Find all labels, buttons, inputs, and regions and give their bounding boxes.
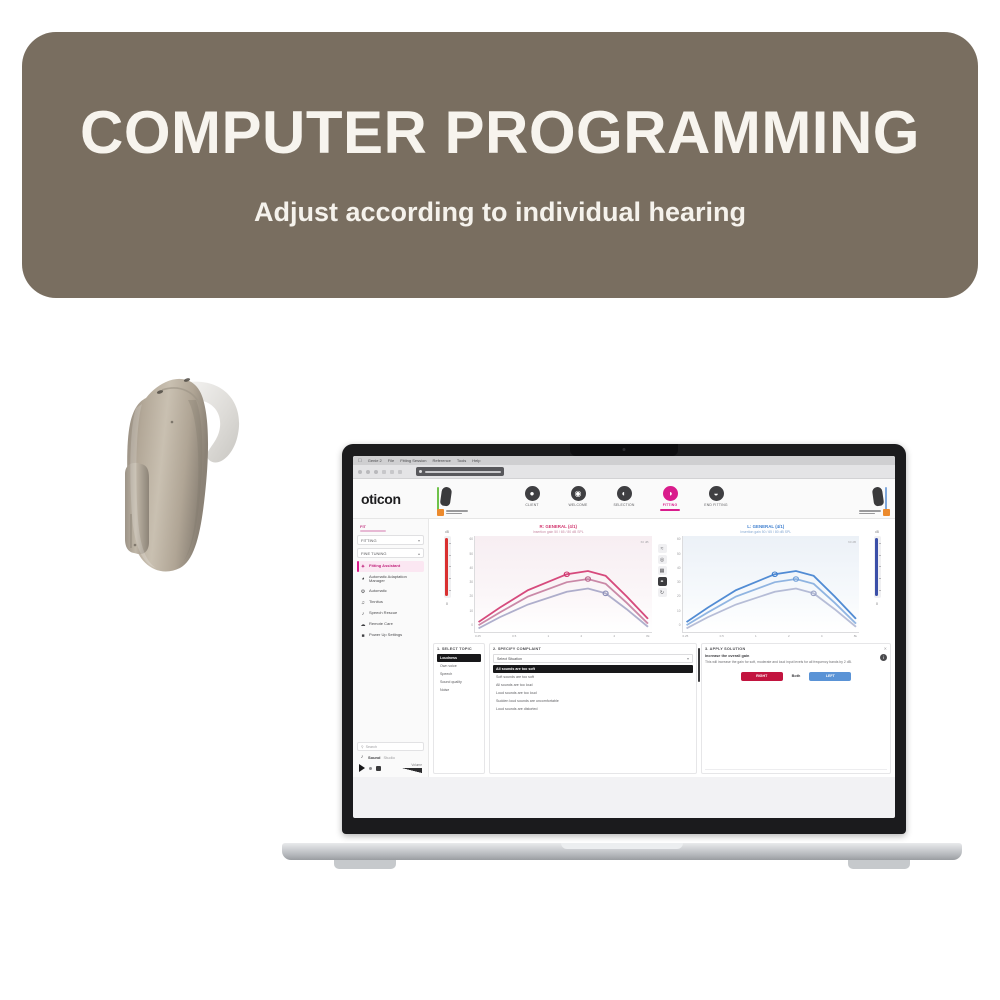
cloud-icon: ☁ — [360, 622, 366, 628]
ear-icon: ◉ — [571, 486, 586, 501]
sidebar-select-fine-tuning-value: FINE TUNING — [361, 551, 386, 556]
device-thumbnail-right[interactable] — [437, 487, 451, 511]
chevron-up-icon: ▴ — [418, 551, 420, 556]
gain-charts-row: dB 0 R: GENERAL (4/1) — [433, 522, 891, 640]
address-bar-text — [425, 471, 501, 473]
right-meter-ticks — [449, 536, 451, 598]
browser-toolbar — [353, 465, 895, 479]
right-meter-caption: dB — [445, 530, 449, 534]
chevron-down-icon: ▾ — [687, 656, 689, 661]
menu-item-tools[interactable]: Tools — [457, 458, 466, 463]
chart-yaxis-left: 6050403020100 — [673, 536, 681, 633]
chart-body-left: 6050403020100 60 dB — [673, 536, 860, 633]
play-icon[interactable] — [359, 764, 365, 772]
workflow-steps: ● CLIENT ◉ WELCOME ◐ SELECTION ◑ FITTING — [517, 486, 731, 511]
back-icon[interactable] — [382, 470, 386, 474]
tune-icon: ◑ — [663, 486, 678, 501]
header-banner: COMPUTER PROGRAMMING Adjust according to… — [22, 32, 978, 298]
wizard-step1-panel: 1. SELECT TOPIC Loudness Own voice Speec… — [433, 643, 485, 774]
chart-left-ear: L: GENERAL (4/1) Insertion gain 50 / 65 … — [672, 522, 861, 640]
wizard-step2-panel: 2. SPECIFY COMPLAINT Select Situation ▾ … — [489, 643, 697, 774]
situation-dropdown-value: Select Situation — [497, 657, 522, 661]
chart-curves-right — [475, 536, 652, 632]
left-meter-ticks — [879, 536, 881, 598]
gauge-icon: ◕ — [360, 576, 366, 582]
wave-icon: ♫ — [360, 600, 366, 606]
laptop-foot-left — [334, 860, 396, 869]
speech-icon: ♪ — [360, 611, 366, 617]
apply-both-label[interactable]: Both — [792, 674, 801, 678]
chart-xaxis-right: 0.250.51248k — [465, 633, 652, 638]
topic-noise[interactable]: Noise — [437, 686, 481, 694]
solution-description: This will increase the gain for soft, mo… — [705, 660, 852, 665]
complaint-option-3[interactable]: Loud sounds are too loud — [493, 689, 693, 697]
search-icon: ⚲ — [361, 745, 364, 749]
close-icon[interactable] — [358, 470, 362, 474]
battery-icon: ■ — [360, 633, 366, 639]
gear-icon: ⚙ — [360, 589, 366, 595]
sidebar-item-automatic[interactable]: ⚙ Automatic — [357, 586, 424, 597]
device-meta-left — [859, 509, 890, 516]
search-placeholder: Search — [366, 745, 377, 749]
forward-icon[interactable] — [390, 470, 394, 474]
complaint-option-5[interactable]: Loud sounds are distorted — [493, 705, 693, 713]
sidebar-section-title: FIT — [360, 524, 421, 529]
chart-title-right: R: GENERAL (4/1) — [465, 524, 652, 529]
sidebar-item-remote-care[interactable]: ☁ Remote Care — [357, 619, 424, 630]
apply-left-button[interactable]: LEFT — [809, 672, 851, 681]
device-icon: ◐ — [617, 486, 632, 501]
sidebar-item-label-3: Tinnitus — [369, 600, 383, 605]
laptop-lid:  Genie 2 File Fitting Session Reference… — [342, 444, 906, 834]
sidebar-select-fine-tuning[interactable]: FINE TUNING ▴ — [357, 548, 424, 558]
camera-notch — [570, 444, 678, 456]
sidebar-item-fitting-assistant[interactable]: ✦ Fitting Assistant — [357, 561, 424, 572]
device-detail-right — [446, 510, 468, 514]
lock-icon — [419, 470, 422, 473]
sidebar-item-tinnitus[interactable]: ♫ Tinnitus — [357, 597, 424, 608]
address-bar[interactable] — [416, 467, 504, 476]
chart-title-left: L: GENERAL (4/1) — [673, 524, 860, 529]
stop-icon[interactable] — [369, 767, 372, 770]
left-gain-meter[interactable]: dB 0 — [863, 522, 891, 640]
sidebar-spacer — [357, 641, 424, 742]
solution-header: Increase the overall gain This will incr… — [705, 654, 887, 665]
macos-menu-bar[interactable]:  Genie 2 File Fitting Session Reference… — [353, 456, 895, 465]
chart-plot-right[interactable]: 60 dB — [474, 536, 652, 633]
check-icon: ◒ — [709, 486, 724, 501]
info-icon[interactable]: i — [880, 654, 887, 661]
battery-indicator-left — [885, 487, 887, 511]
sidebar-header: FIT — [357, 523, 424, 535]
complaint-option-2[interactable]: All sounds are too loud — [493, 681, 693, 689]
step-end-fitting[interactable]: ◒ END FITTING — [701, 486, 731, 507]
sidebar-item-power-up-settings[interactable]: ■ Power Up Settings — [357, 630, 424, 641]
chart-tool-rail: ≈ ◎ ▦ ⚭ ↻ — [656, 522, 669, 640]
chevron-down-icon: ▾ — [418, 538, 420, 543]
step-label-selection: SELECTION — [613, 503, 634, 507]
menu-item-app[interactable]: Genie 2 — [368, 458, 382, 463]
fitting-assistant-wizard: 1. SELECT TOPIC Loudness Own voice Speec… — [433, 643, 891, 774]
chart-subtitle-left: Insertion gain 50 / 65 / 80 dB SPL — [673, 530, 860, 534]
volume-wedge-icon — [402, 768, 422, 773]
loop-icon[interactable] — [376, 766, 381, 771]
menu-item-file[interactable]: File — [388, 458, 394, 463]
wand-icon: ✦ — [360, 564, 366, 570]
laptop-base — [282, 843, 962, 860]
step-selection[interactable]: ◐ SELECTION — [609, 486, 639, 507]
right-meter-track[interactable] — [444, 536, 451, 598]
chart-body-right: 6050403020100 60 dB — [465, 536, 652, 633]
laptop-mockup:  Genie 2 File Fitting Session Reference… — [282, 444, 962, 874]
wizard-scrollbar[interactable] — [698, 648, 700, 682]
wizard-step2-title: 2. SPECIFY COMPLAINT — [493, 647, 693, 651]
step-label-welcome: WELCOME — [569, 503, 588, 507]
close-icon[interactable]: ✕ — [884, 646, 887, 651]
chart-curves-left — [683, 536, 860, 632]
link-icon[interactable]: ⚭ — [658, 577, 667, 586]
sidebar-item-label-6: Power Up Settings — [369, 633, 402, 638]
chart-right-ear: R: GENERAL (4/1) Insertion gain 50 / 65 … — [464, 522, 653, 640]
webcam-icon — [623, 448, 626, 451]
sidebar-item-label-1: Automatic Adaptation Manager — [369, 575, 421, 584]
volume-slider[interactable]: Volume — [402, 763, 422, 773]
step-label-client: CLIENT — [525, 503, 538, 507]
wizard-step1-title: 1. SELECT TOPIC — [437, 647, 481, 651]
topic-own-voice[interactable]: Own voice — [437, 662, 481, 670]
minimize-icon[interactable] — [366, 470, 370, 474]
header-right-cluster — [873, 487, 887, 511]
sidebar-select-fitting-value: FITTING — [361, 538, 377, 543]
panel-footer-divider — [705, 769, 887, 770]
curve-icon[interactable]: ≈ — [658, 544, 667, 553]
chart-subtitle-right: Insertion gain 50 / 65 / 80 dB SPL — [465, 530, 652, 534]
device-meta-right — [437, 509, 468, 516]
chart-plot-left[interactable]: 60 dB — [682, 536, 860, 633]
step-client[interactable]: ● CLIENT — [517, 486, 547, 507]
chart-yaxis-right: 6050403020100 — [465, 536, 473, 633]
banner-subtitle: Adjust according to individual hearing — [254, 197, 746, 228]
ear-badge-left — [883, 509, 890, 516]
sidebar-item-automatic-adaptation-manager[interactable]: ◕ Automatic Adaptation Manager — [357, 572, 424, 586]
apply-right-button[interactable]: RIGHT — [741, 672, 783, 681]
right-meter-value: 0 — [446, 602, 448, 606]
sidebar-item-label-0: Fitting Assistant — [369, 564, 400, 569]
wizard-step3-panel: ✕ 3. APPLY SOLUTION Increase the overall… — [701, 643, 891, 774]
apple-menu-icon[interactable]:  — [358, 458, 362, 464]
menu-item-help[interactable]: Help — [472, 458, 480, 463]
complaint-option-4[interactable]: Sudden loud sounds are uncomfortable — [493, 697, 693, 705]
device-thumbnail-left[interactable] — [873, 487, 887, 511]
left-meter-caption: dB — [875, 530, 879, 534]
topic-speech[interactable]: Speech — [437, 670, 481, 678]
sound-studio-label[interactable]: ♪ Sound Studio — [357, 754, 424, 763]
step-fitting[interactable]: ◑ FITTING — [655, 486, 685, 511]
apply-solution-buttons: RIGHT Both LEFT — [705, 672, 887, 681]
hearing-aid-icon-left — [872, 486, 885, 506]
main-content: dB 0 R: GENERAL (4/1) — [429, 519, 895, 777]
sidebar-item-speech-rescue[interactable]: ♪ Speech Rescue — [357, 608, 424, 619]
sidebar: FIT FITTING ▾ FINE TUNING ▴ ✦ Fitting As… — [353, 519, 429, 777]
left-meter-track[interactable] — [874, 536, 881, 598]
step-label-end-fitting: END FITTING — [704, 503, 727, 507]
hearing-aid-icon-right — [440, 486, 453, 506]
situation-dropdown[interactable]: Select Situation ▾ — [493, 654, 693, 663]
sidebar-item-label-5: Remote Care — [369, 622, 393, 627]
volume-label: Volume — [411, 763, 422, 767]
sound-studio-title: Sound — [368, 755, 380, 760]
right-gain-meter[interactable]: dB 0 — [433, 522, 461, 640]
ear-badge-right — [437, 509, 444, 516]
hearing-aid-product-image — [68, 352, 258, 602]
topic-loudness[interactable]: Loudness — [437, 654, 481, 662]
wizard-step3-title: 3. APPLY SOLUTION — [705, 647, 887, 651]
hearing-aid-illustration — [68, 352, 258, 602]
complaint-option-1[interactable]: Soft sounds are too soft — [493, 673, 693, 681]
laptop-foot-right — [848, 860, 910, 869]
left-meter-fill — [875, 538, 878, 596]
chart-xaxis-left: 0.250.51248k — [673, 633, 860, 638]
menu-item-reference[interactable]: Reference — [432, 458, 450, 463]
app-body: FIT FITTING ▾ FINE TUNING ▴ ✦ Fitting As… — [353, 519, 895, 777]
menu-item-session[interactable]: Fitting Session — [400, 458, 426, 463]
app-header: oticon ● CLIENT — [353, 479, 895, 519]
grid-icon[interactable]: ▦ — [658, 566, 667, 575]
sidebar-section-underline — [360, 530, 386, 532]
right-meter-fill — [445, 538, 448, 596]
left-meter-value: 0 — [876, 602, 878, 606]
complaint-option-0[interactable]: All sounds are too soft — [493, 665, 693, 673]
laptop-screen:  Genie 2 File Fitting Session Reference… — [353, 456, 895, 818]
speaker-icon: ♪ — [359, 754, 365, 760]
topic-sound-quality[interactable]: Sound quality — [437, 678, 481, 686]
step-welcome[interactable]: ◉ WELCOME — [563, 486, 593, 507]
sidebar-item-label-4: Speech Rescue — [369, 611, 397, 616]
solution-title: Increase the overall gain — [705, 654, 852, 658]
oticon-logo: oticon — [361, 491, 437, 507]
device-detail-left — [859, 510, 881, 514]
step-label-fitting: FITTING — [663, 503, 678, 507]
reload-icon[interactable] — [398, 470, 402, 474]
reset-icon[interactable]: ↻ — [658, 588, 667, 597]
battery-indicator-right — [437, 487, 439, 511]
sidebar-search-input[interactable]: ⚲ Search — [357, 742, 424, 751]
person-icon: ● — [525, 486, 540, 501]
sidebar-select-fitting[interactable]: FITTING ▾ — [357, 535, 424, 545]
banner-title: COMPUTER PROGRAMMING — [80, 103, 920, 163]
maximize-icon[interactable] — [374, 470, 378, 474]
sidebar-item-label-2: Automatic — [369, 589, 387, 594]
sound-player: Volume — [357, 763, 424, 777]
sound-studio-sub: Studio — [383, 755, 394, 760]
target-icon[interactable]: ◎ — [658, 555, 667, 564]
